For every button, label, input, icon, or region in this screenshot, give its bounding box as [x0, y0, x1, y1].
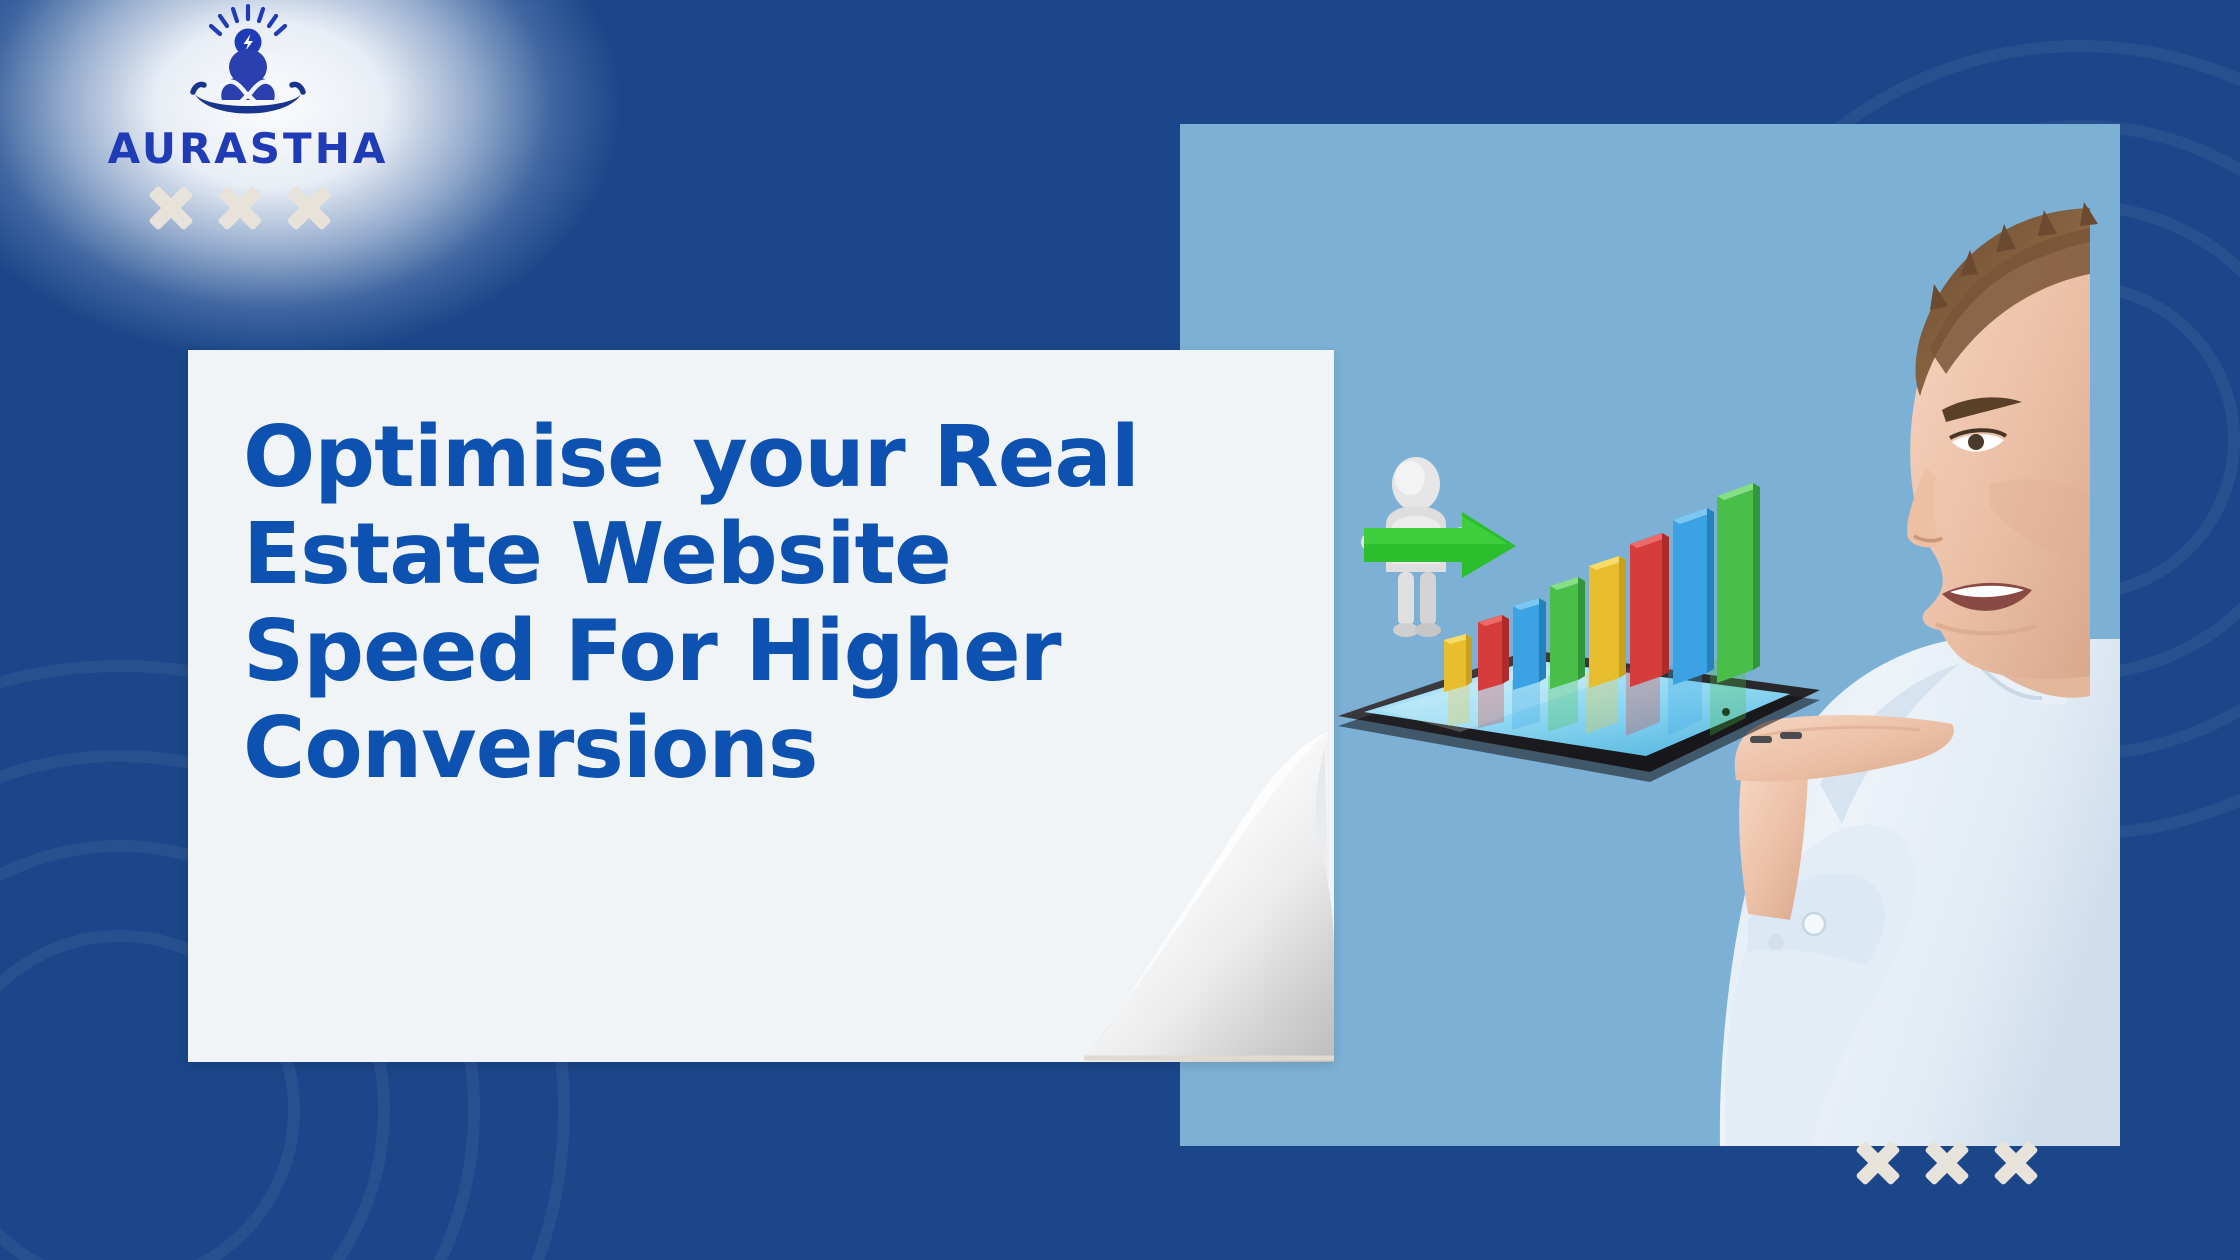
title-line-2: Estate Website	[243, 507, 1273, 604]
brand-wordmark: AURASTHA	[108, 128, 389, 170]
brand-logo[interactable]: AURASTHA	[118, 4, 378, 194]
tablet-with-3d-bar-chart	[1320, 454, 1840, 834]
banner-canvas: AURASTHA	[0, 0, 2240, 1260]
cuff-button	[1803, 913, 1825, 935]
x-mark-icon	[1855, 1140, 1901, 1186]
x-mark-icon	[217, 185, 263, 231]
x-decoration-row-top	[148, 185, 332, 231]
x-mark-icon	[286, 185, 332, 231]
page-title: Optimise your Real Estate Website Speed …	[243, 410, 1273, 798]
title-line-4: Conversions	[243, 701, 1273, 798]
title-line-3: Speed For Higher	[243, 604, 1273, 701]
title-line-1: Optimise your Real	[243, 410, 1273, 507]
bar-series	[1444, 483, 1760, 692]
meditating-figure-with-lightning-bolt-icon	[173, 4, 323, 126]
x-decoration-row-bottom	[1855, 1140, 2039, 1186]
headline-card: Optimise your Real Estate Website Speed …	[188, 350, 1334, 1062]
x-mark-icon	[1924, 1140, 1970, 1186]
x-mark-icon	[1993, 1140, 2039, 1186]
x-mark-icon	[148, 185, 194, 231]
